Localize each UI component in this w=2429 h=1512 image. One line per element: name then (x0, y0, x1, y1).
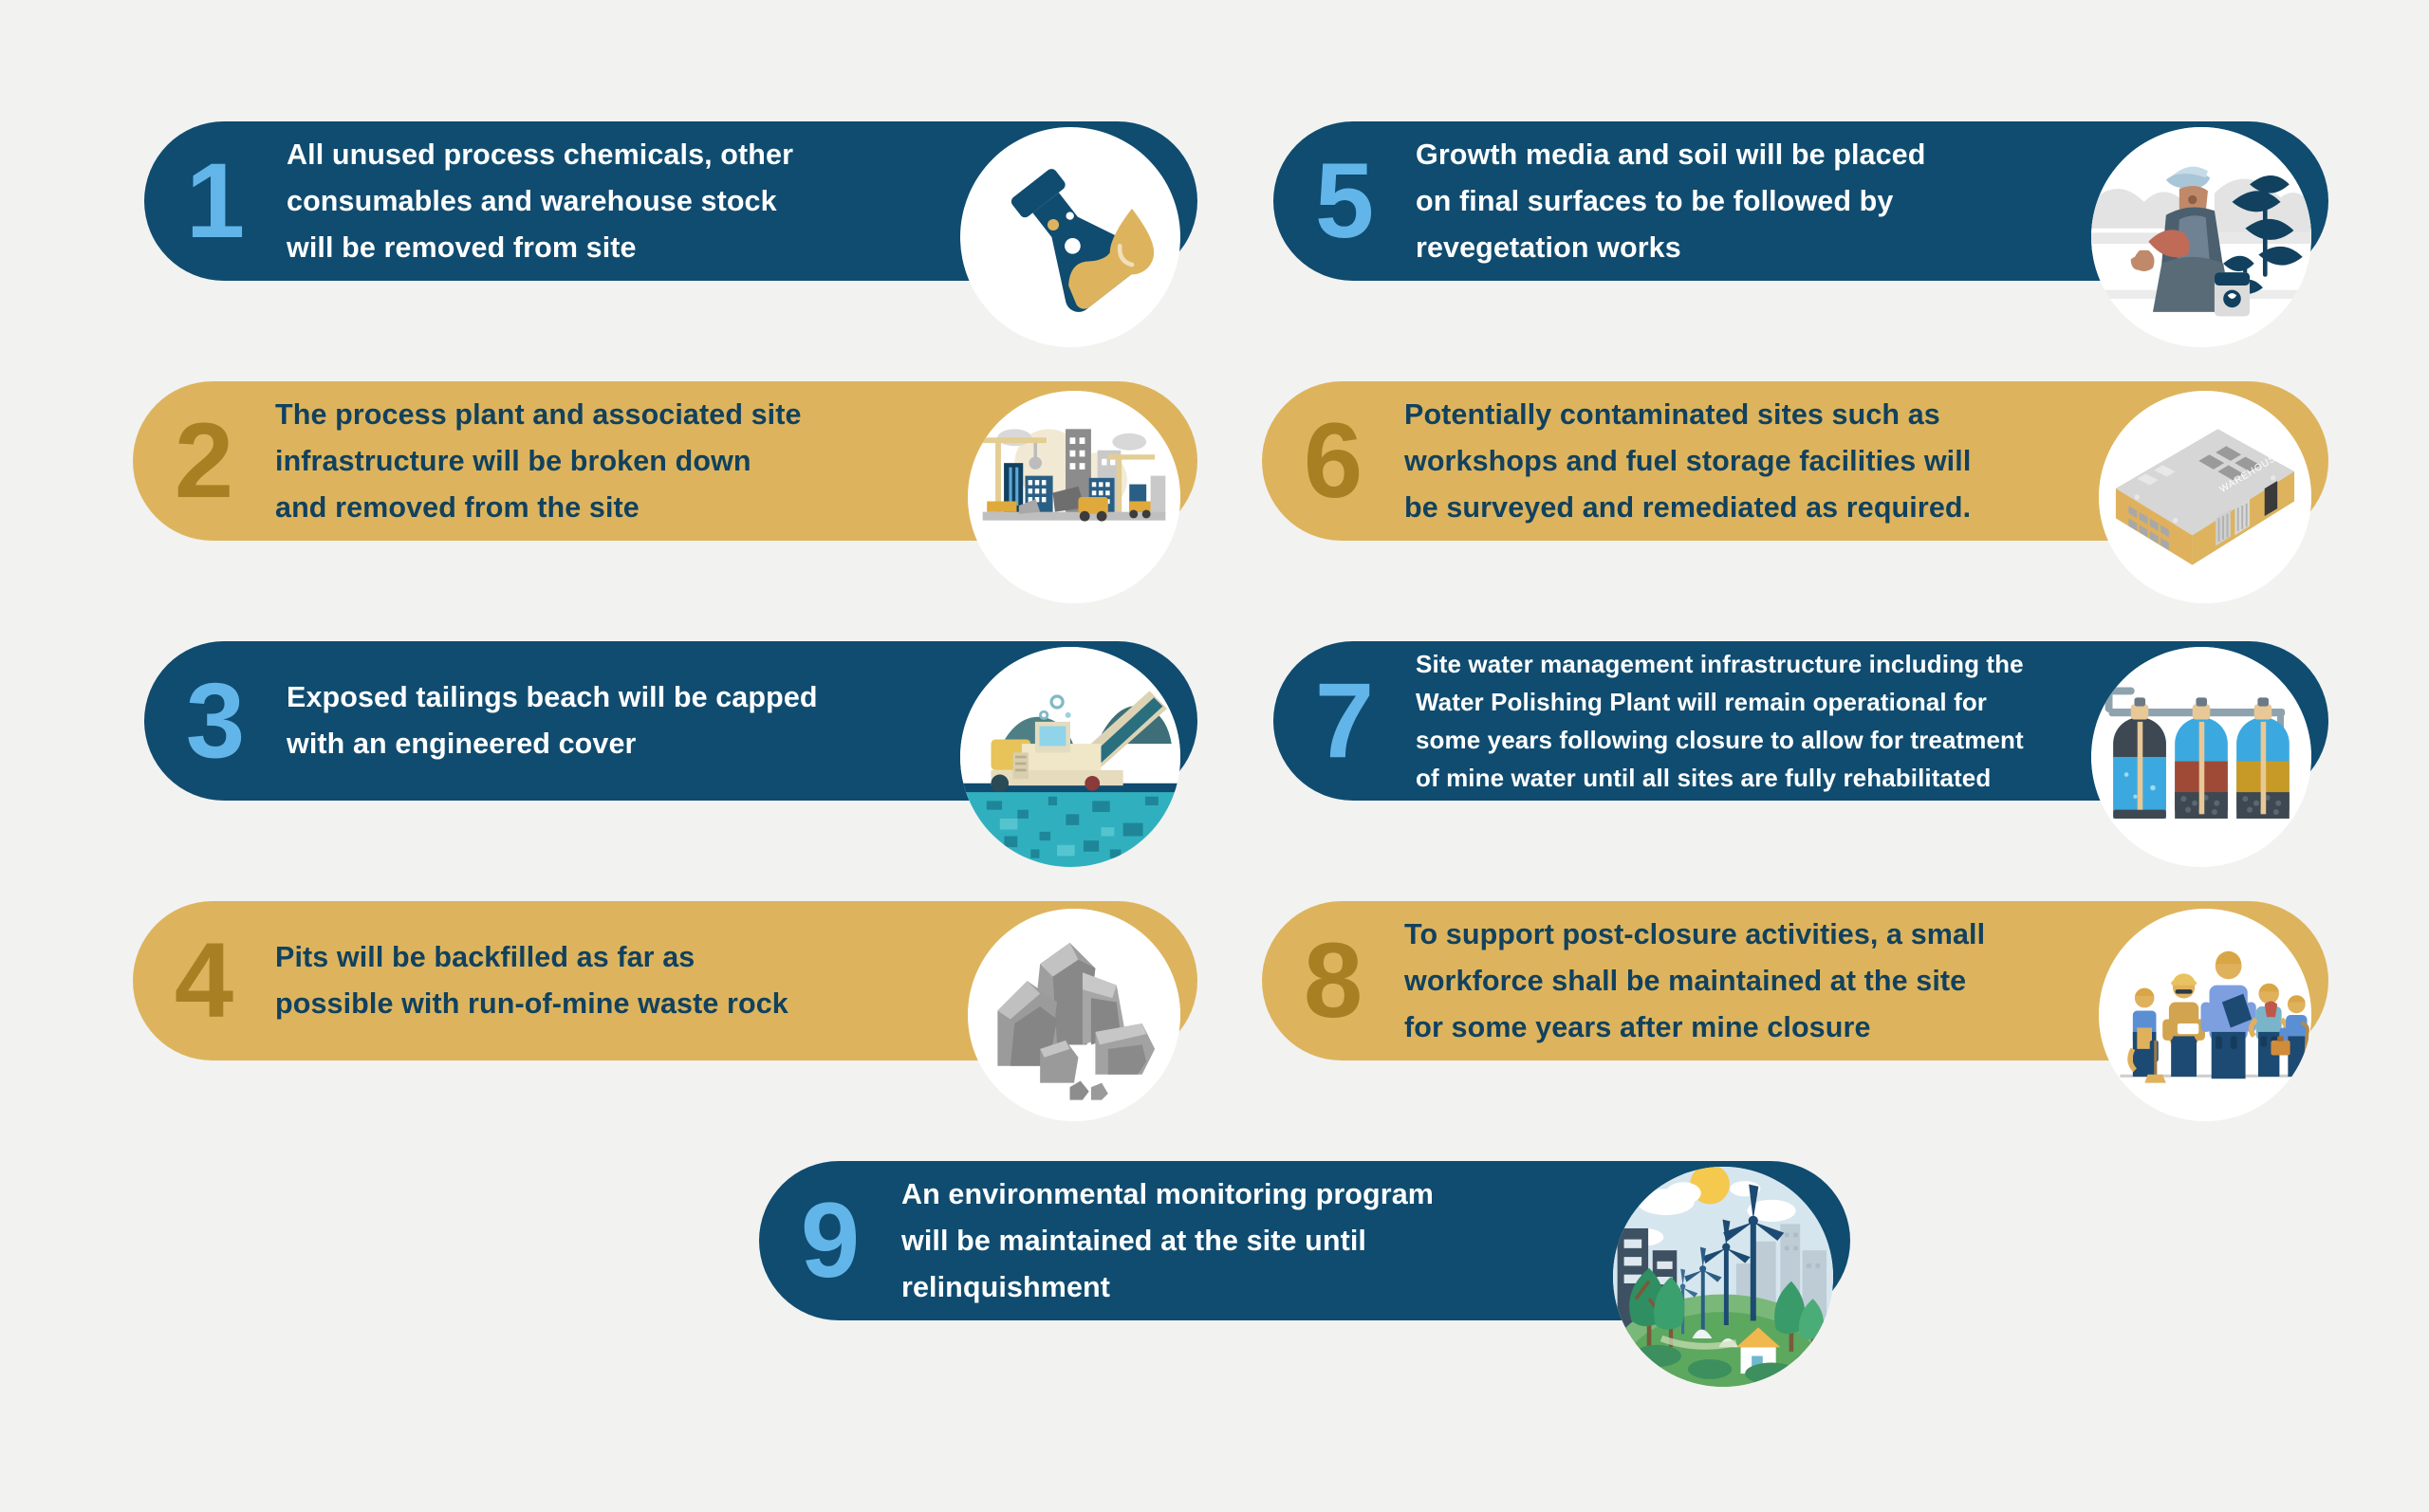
construction-site-icon (968, 391, 1180, 603)
water-treatment-tanks-icon (2091, 647, 2311, 867)
step-number-6: 6 (1262, 408, 1404, 514)
workforce-team-icon (2099, 909, 2311, 1121)
step-number-4: 4 (133, 928, 275, 1034)
step-number-8: 8 (1262, 928, 1404, 1034)
step-number-1: 1 (144, 148, 287, 254)
step-number-5: 5 (1273, 148, 1416, 254)
step-number-2: 2 (133, 408, 275, 514)
step-number-7: 7 (1273, 668, 1416, 774)
eco-landscape-monitoring-icon (1613, 1167, 1833, 1387)
revegetation-planting-icon (2091, 127, 2311, 347)
mine-closure-steps-infographic: 1 All unused process chemicals, other co… (0, 0, 2429, 1512)
step-number-9: 9 (759, 1188, 901, 1294)
warehouse-building-icon: WAREHOUSE (2099, 391, 2311, 603)
chemical-flask-icon (960, 127, 1180, 347)
waste-rock-icon (968, 909, 1180, 1121)
step-number-3: 3 (144, 668, 287, 774)
tailings-dredge-icon (960, 647, 1180, 867)
